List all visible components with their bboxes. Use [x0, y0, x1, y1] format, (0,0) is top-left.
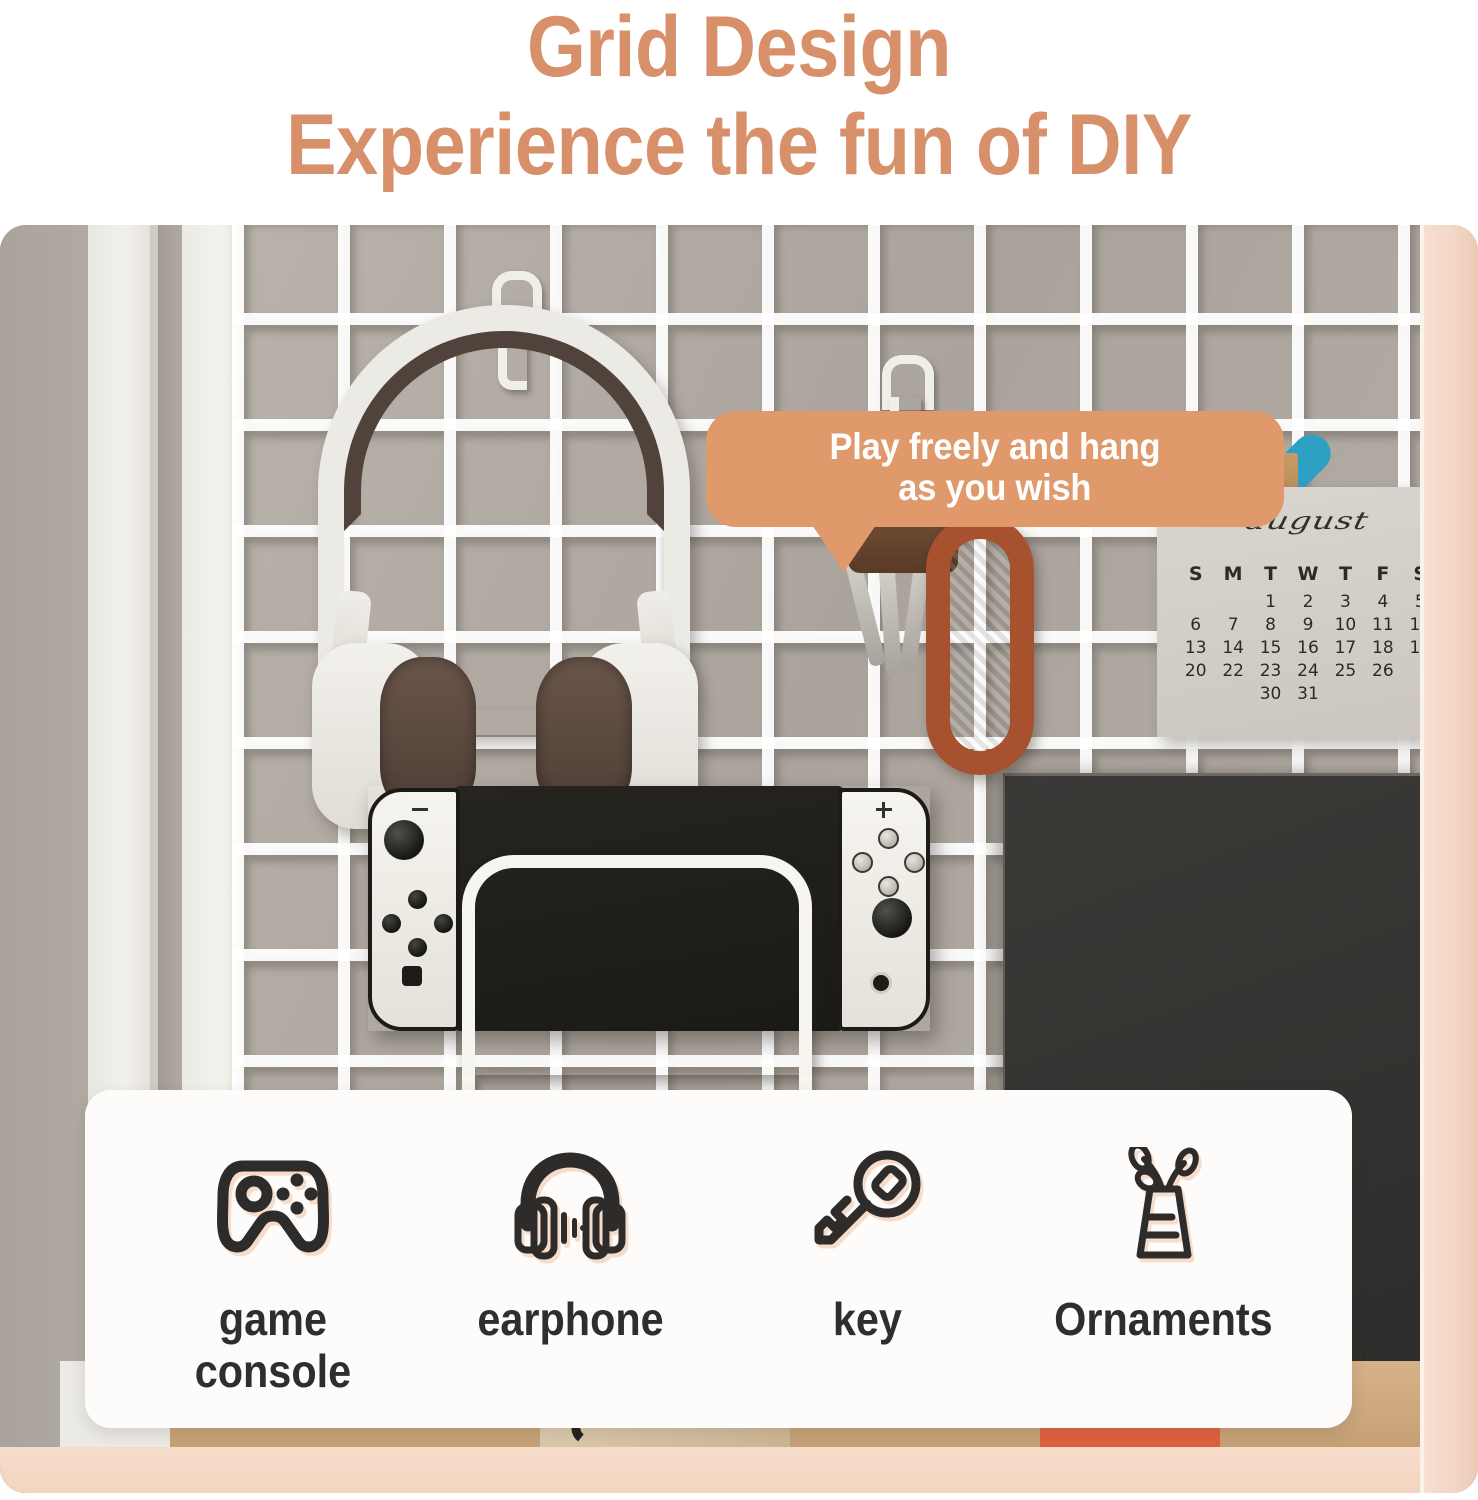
feature-label: earphone	[477, 1294, 663, 1346]
console-wire-holder	[462, 855, 812, 1075]
calendar-date-cell: 18	[1364, 638, 1401, 658]
calendar-date-cell: 17	[1327, 638, 1364, 658]
calendar-date-cell: 9	[1289, 615, 1326, 635]
product-marketing-image: Grid Design Experience the fun of DIY au…	[0, 0, 1478, 1500]
calendar-date-cell: 25	[1327, 661, 1364, 681]
calendar-grid: SMTWTFS123456789101112131415161718192022…	[1177, 563, 1439, 704]
calendar-date-cell: 22	[1214, 661, 1251, 681]
calendar-date-cell	[1214, 592, 1251, 612]
calendar-date-cell: 13	[1177, 638, 1214, 658]
calendar-date-cell	[1214, 684, 1251, 704]
calendar-date-cell: 2	[1289, 592, 1326, 612]
callout-line-1: Play freely and hang	[830, 426, 1161, 467]
key-icon	[792, 1136, 942, 1276]
callout-line-2: as you wish	[898, 467, 1091, 508]
analog-stick-right	[872, 898, 912, 938]
feature-item-earphone: earphone	[430, 1136, 710, 1346]
calendar-date-cell: 3	[1327, 592, 1364, 612]
callout-tail	[810, 522, 878, 572]
capture-button	[402, 966, 422, 986]
calendar-date-cell: 16	[1289, 638, 1326, 658]
calendar-day-header: T	[1252, 563, 1289, 589]
calendar-date-cell: 8	[1252, 615, 1289, 635]
calendar-day-header: M	[1214, 563, 1251, 589]
gamepad-icon	[198, 1136, 348, 1276]
feature-label: game console	[195, 1294, 351, 1397]
button-b	[878, 876, 899, 897]
calendar-day-header: S	[1177, 563, 1214, 589]
button-a	[904, 852, 925, 873]
feature-card: game console earphone	[85, 1090, 1352, 1428]
calendar-date-cell: 15	[1252, 638, 1289, 658]
braided-leather-keychain	[926, 515, 1034, 775]
headline-line-2: Experience the fun of DIY	[89, 102, 1390, 190]
feature-label: Ornaments	[1054, 1294, 1273, 1346]
feature-label: key	[832, 1294, 901, 1346]
feature-list: game console earphone	[85, 1090, 1352, 1428]
plus-button	[876, 808, 892, 811]
vase-plant-icon	[1089, 1136, 1239, 1276]
calendar-date-cell: 24	[1289, 661, 1326, 681]
cabinet-panel-left-1	[0, 225, 90, 1493]
dpad-right	[434, 914, 453, 933]
calendar-date-cell: 23	[1252, 661, 1289, 681]
dpad-down	[408, 938, 427, 957]
home-button	[870, 972, 892, 994]
analog-stick-left	[384, 820, 424, 860]
calendar-date-cell: 30	[1252, 684, 1289, 704]
calendar-date-cell	[1177, 684, 1214, 704]
dpad-up	[408, 890, 427, 909]
dpad-left	[382, 914, 401, 933]
minus-button	[412, 808, 428, 811]
callout-bubble: Play freely and hang as you wish	[706, 411, 1284, 527]
calendar-date-cell	[1364, 684, 1401, 704]
calendar-date-cell: 11	[1364, 615, 1401, 635]
calendar-date-cell: 14	[1214, 638, 1251, 658]
button-y	[852, 852, 873, 873]
calendar-day-header: F	[1364, 563, 1401, 589]
calendar-date-cell: 4	[1364, 592, 1401, 612]
desk-front-edge	[0, 1447, 1478, 1493]
headphones-icon	[495, 1136, 645, 1276]
calendar-date-cell: 1	[1252, 592, 1289, 612]
calendar-date-cell	[1177, 592, 1214, 612]
calendar-date-cell: 26	[1364, 661, 1401, 681]
headline-line-1: Grid Design	[89, 4, 1390, 92]
button-x	[878, 828, 899, 849]
feature-item-key: key	[727, 1136, 1007, 1346]
calendar-date-cell: 6	[1177, 615, 1214, 635]
right-wall-strip	[1420, 225, 1478, 1493]
calendar-date-cell: 7	[1214, 615, 1251, 635]
calendar-day-header: T	[1327, 563, 1364, 589]
feature-item-ornaments: Ornaments	[1024, 1136, 1304, 1346]
calendar-date-cell: 31	[1289, 684, 1326, 704]
page-title: Grid Design Experience the fun of DIY	[89, 4, 1390, 189]
calendar-date-cell: 20	[1177, 661, 1214, 681]
headphones-photo	[318, 305, 690, 825]
calendar-date-cell	[1327, 684, 1364, 704]
calendar-date-cell: 10	[1327, 615, 1364, 635]
calendar-day-header: W	[1289, 563, 1326, 589]
feature-item-game-console: game console	[133, 1136, 413, 1397]
